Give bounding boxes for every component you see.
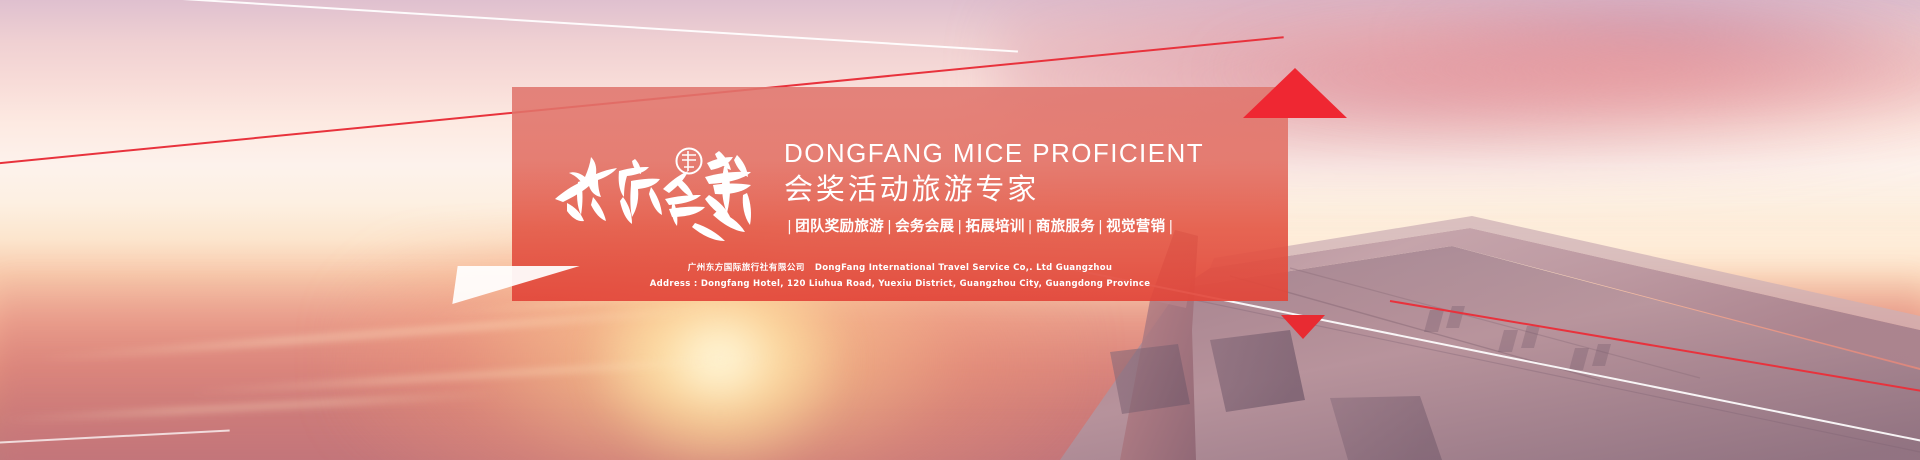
tagline-separator: |: [954, 219, 965, 235]
tagline-item-3: 商旅服务: [1036, 219, 1095, 235]
tagline-separator: |: [784, 219, 795, 235]
red-triangle-down-icon: [1281, 315, 1325, 339]
tagline-item-0: 团队奖励旅游: [795, 219, 884, 235]
red-triangle-up-icon: [1243, 68, 1347, 118]
tagline-separator: |: [1165, 219, 1176, 235]
tagline-item-4: 视觉营销: [1106, 219, 1165, 235]
company-address-block: 广州东方国际旅行社有限公司DongFang International Trav…: [512, 261, 1288, 292]
headline-english: DONGFANG MICE PROFICIENT: [784, 139, 1204, 167]
banner-panel: DONGFANG MICE PROFICIENT 会奖活动旅游专家 |团队奖励旅…: [512, 87, 1288, 301]
white-triangle-icon: [452, 266, 579, 304]
tagline-separator: |: [1095, 219, 1106, 235]
tagline-item-1: 会务会展: [895, 219, 954, 235]
banner-stage: DONGFANG MICE PROFICIENT 会奖活动旅游专家 |团队奖励旅…: [0, 0, 1920, 460]
tagline-separator: |: [884, 219, 895, 235]
dongfang-mice-calligraphy-logo: [547, 137, 769, 247]
tagline-item-2: 拓展培训: [965, 219, 1024, 235]
headline-chinese: 会奖活动旅游专家: [784, 173, 1204, 205]
company-name-chinese: 广州东方国际旅行社有限公司: [688, 263, 805, 273]
service-tagline-list: |团队奖励旅游|会务会展|拓展培训|商旅服务|视觉营销|: [784, 215, 1204, 236]
headline-block: DONGFANG MICE PROFICIENT 会奖活动旅游专家 |团队奖励旅…: [784, 139, 1204, 236]
tagline-separator: |: [1025, 219, 1036, 235]
company-name-english: DongFang International Travel Service Co…: [815, 263, 1112, 273]
company-address-line: Address : Dongfang Hotel, 120 Liuhua Roa…: [512, 277, 1288, 293]
company-name-line: 广州东方国际旅行社有限公司DongFang International Trav…: [512, 261, 1288, 277]
